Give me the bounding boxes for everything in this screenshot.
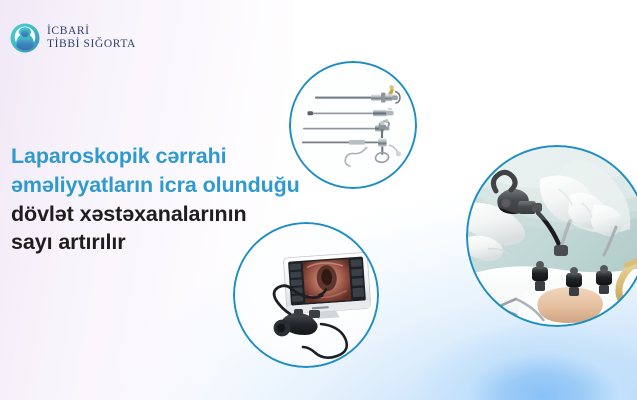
brand-line-2: TİBBİ SIĞORTA — [47, 38, 136, 51]
brand-line-1: İCBARİ — [47, 25, 136, 38]
laparoscopic-instruments-photo — [289, 61, 417, 189]
surgery-image — [466, 145, 637, 327]
laparoscopic-surgery-photo — [466, 145, 637, 327]
endoscope-monitor-photo — [233, 222, 379, 368]
brand-logo[interactable]: İCBARİ TİBBİ SIĞORTA — [10, 23, 136, 53]
promo-banner: İCBARİ TİBBİ SIĞORTA Laparoskopik cərrah… — [0, 0, 637, 400]
monitor-image — [233, 222, 379, 368]
brand-wordmark: İCBARİ TİBBİ SIĞORTA — [47, 25, 136, 51]
icbari-emblem-icon — [10, 23, 40, 53]
instruments-image — [289, 61, 417, 189]
